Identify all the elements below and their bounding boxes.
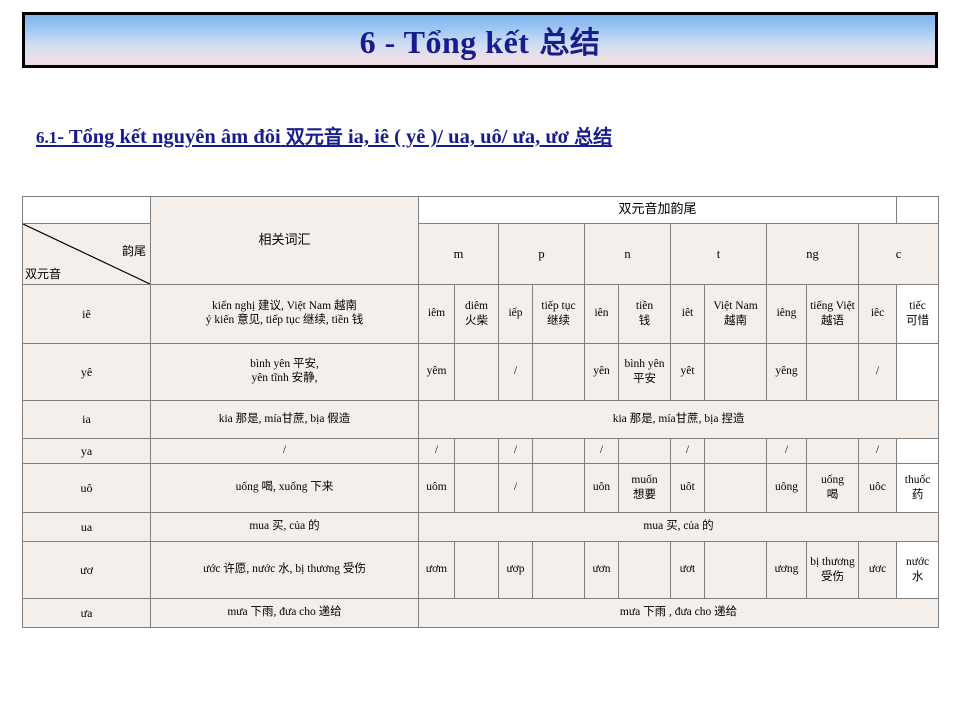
cell-ex-iem: diêm火柴 bbox=[455, 285, 499, 344]
subtitle-text: - Tổng kết nguyên âm đôi bbox=[57, 126, 280, 148]
cell-ex-uoc: thuốc药 bbox=[897, 464, 939, 513]
cell-ex-yec bbox=[897, 344, 939, 401]
cell-ex-yem bbox=[455, 344, 499, 401]
cell-form-yan: / bbox=[585, 439, 619, 464]
row-vocab-uo: uống 喝, xuống 下来 bbox=[151, 464, 419, 513]
cell-ex-uot2 bbox=[705, 542, 767, 599]
table-row: ưa mưa 下雨, đưa cho 递给 mưa 下雨 , đưa cho 递… bbox=[23, 599, 939, 628]
cell-ex-uong2: bị thương受伤 bbox=[807, 542, 859, 599]
row-vowel-uo: uô bbox=[23, 464, 151, 513]
cell-form-uoc: uôc bbox=[859, 464, 897, 513]
ex-vn: muốn bbox=[620, 474, 669, 488]
ex-cn: 药 bbox=[898, 488, 937, 502]
ending-header-m: m bbox=[419, 224, 499, 285]
cell-form-yeng: yêng bbox=[767, 344, 807, 401]
vocab-line-2: ý kiến 意见, tiếp tục 继续, tiền 钱 bbox=[152, 314, 417, 328]
cell-form-yac: / bbox=[859, 439, 897, 464]
cell-ex-yam bbox=[455, 439, 499, 464]
vocab-line-1: bình yên 平安, bbox=[152, 358, 417, 372]
cell-form-yet: yêt bbox=[671, 344, 705, 401]
row-vowel-ua2: ưa bbox=[23, 599, 151, 628]
cell-form-uom: uôm bbox=[419, 464, 455, 513]
cell-ex-yang bbox=[807, 439, 859, 464]
header-group-endings: 双元音加韵尾 bbox=[419, 197, 897, 224]
cell-form-yep: / bbox=[499, 344, 533, 401]
cell-form-uoc2: ươc bbox=[859, 542, 897, 599]
cell-ex-uop2 bbox=[533, 542, 585, 599]
ex-vn: tiếc bbox=[898, 300, 937, 314]
cell-ex-iec: tiếc可惜 bbox=[897, 285, 939, 344]
cell-ex-uot bbox=[705, 464, 767, 513]
header-top-right-spacer bbox=[897, 197, 939, 224]
ex-vn: bị thương bbox=[808, 556, 857, 570]
section-subtitle: 6.1- Tổng kết nguyên âm đôi 双元音 ia, iê (… bbox=[36, 122, 926, 149]
cell-form-yem: yêm bbox=[419, 344, 455, 401]
ex-vn: diêm bbox=[456, 300, 497, 314]
row-vowel-ua: ua bbox=[23, 513, 151, 542]
cell-ex-uop bbox=[533, 464, 585, 513]
row-vowel-ye: yê bbox=[23, 344, 151, 401]
ex-vn: bình yên bbox=[620, 358, 669, 372]
cell-form-yat: / bbox=[671, 439, 705, 464]
cell-form-yen: yên bbox=[585, 344, 619, 401]
ex-vn: Việt Nam bbox=[706, 300, 765, 314]
row-vocab-uo2: ước 许愿, nước 水, bị thương 受伤 bbox=[151, 542, 419, 599]
table-row: ươ ước 许愿, nước 水, bị thương 受伤 ươm ươp … bbox=[23, 542, 939, 599]
cell-ex-ieng: tiếng Việt越语 bbox=[807, 285, 859, 344]
cell-ex-iep: tiếp tục继续 bbox=[533, 285, 585, 344]
subtitle-cn-2: 总结 bbox=[574, 126, 612, 148]
cell-form-iet: iêt bbox=[671, 285, 705, 344]
cell-ex-uom2 bbox=[455, 542, 499, 599]
cell-ex-uong: uống喝 bbox=[807, 464, 859, 513]
ex-vn: uống bbox=[808, 474, 857, 488]
cell-ex-yac bbox=[897, 439, 939, 464]
row-vocab-ua: mua 买, của 的 bbox=[151, 513, 419, 542]
cell-form-uot2: ươt bbox=[671, 542, 705, 599]
cell-ex-yet bbox=[705, 344, 767, 401]
table-row: ua mua 买, của 的 mua 买, của 的 bbox=[23, 513, 939, 542]
ex-cn: 可惜 bbox=[898, 314, 937, 328]
row-vowel-uo2: ươ bbox=[23, 542, 151, 599]
cell-form-uon: uôn bbox=[585, 464, 619, 513]
header-vocab: 相关词汇 bbox=[151, 197, 419, 285]
table-row: ia kia 那是, mía甘蔗, bịa 假造 kia 那是, mía甘蔗, … bbox=[23, 401, 939, 439]
cell-form-iec: iêc bbox=[859, 285, 897, 344]
ex-cn: 继续 bbox=[534, 314, 583, 328]
row-merged-ia: kia 那是, mía甘蔗, bịa 捏造 bbox=[419, 401, 939, 439]
ending-header-ng: ng bbox=[767, 224, 859, 285]
cell-form-uong2: ương bbox=[767, 542, 807, 599]
ending-header-p: p bbox=[499, 224, 585, 285]
ex-vn: tiền bbox=[620, 300, 669, 314]
cell-ex-yan bbox=[619, 439, 671, 464]
cell-ex-yeng bbox=[807, 344, 859, 401]
cell-ex-yep bbox=[533, 344, 585, 401]
ending-header-t: t bbox=[671, 224, 767, 285]
cell-form-uop2: ươp bbox=[499, 542, 533, 599]
cell-form-uon2: ươn bbox=[585, 542, 619, 599]
row-merged-ua2: mưa 下雨 , đưa cho 递给 bbox=[419, 599, 939, 628]
cell-form-yec: / bbox=[859, 344, 897, 401]
vocab-line-2: yên tĩnh 安静, bbox=[152, 372, 417, 386]
cell-ex-uon: muốn想要 bbox=[619, 464, 671, 513]
cell-ex-uom bbox=[455, 464, 499, 513]
cell-form-uong: uông bbox=[767, 464, 807, 513]
ex-cn: 喝 bbox=[808, 488, 857, 502]
ex-vn: tiếng Việt bbox=[808, 300, 857, 314]
row-vocab-ua2: mưa 下雨, đưa cho 递给 bbox=[151, 599, 419, 628]
subtitle-cn-1: 双元音 bbox=[286, 126, 343, 148]
vocab-line-1: kiến nghị 建议, Việt Nam 越南 bbox=[152, 300, 417, 314]
cell-form-iem: iêm bbox=[419, 285, 455, 344]
corner-cell-diagonal: 韵尾 双元音 bbox=[23, 224, 151, 285]
row-vowel-ie: iê bbox=[23, 285, 151, 344]
cell-ex-ien: tiền钱 bbox=[619, 285, 671, 344]
ending-header-c: c bbox=[859, 224, 939, 285]
page-title-cn: 总结 bbox=[529, 26, 600, 61]
row-vocab-ye: bình yên 平安, yên tĩnh 安静, bbox=[151, 344, 419, 401]
ex-cn: 火柴 bbox=[456, 314, 497, 328]
table-row: uô uống 喝, xuống 下来 uôm / uôn muốn想要 uôt… bbox=[23, 464, 939, 513]
row-vocab-ia: kia 那是, mía甘蔗, bịa 假造 bbox=[151, 401, 419, 439]
subtitle-vowel-list: ia, iê ( yê )/ ua, uô/ ưa, ươ bbox=[348, 126, 569, 148]
row-merged-ua: mua 买, của 的 bbox=[419, 513, 939, 542]
table-row: iê kiến nghị 建议, Việt Nam 越南 ý kiến 意见, … bbox=[23, 285, 939, 344]
ex-cn: 钱 bbox=[620, 314, 669, 328]
ex-vn: nước bbox=[898, 556, 937, 570]
cell-form-yap: / bbox=[499, 439, 533, 464]
cell-form-yang: / bbox=[767, 439, 807, 464]
ex-cn: 想要 bbox=[620, 488, 669, 502]
title-banner: 6 - Tổng kết总结 bbox=[22, 12, 938, 68]
cell-form-uop: / bbox=[499, 464, 533, 513]
cell-ex-yat bbox=[705, 439, 767, 464]
ex-cn: 越南 bbox=[706, 314, 765, 328]
row-vocab-ie: kiến nghị 建议, Việt Nam 越南 ý kiến 意见, tiế… bbox=[151, 285, 419, 344]
cell-ex-yap bbox=[533, 439, 585, 464]
ex-cn: 受伤 bbox=[808, 570, 857, 584]
table-header-top: 相关词汇 双元音加韵尾 bbox=[23, 197, 939, 224]
ending-header-n: n bbox=[585, 224, 671, 285]
cell-ex-uon2 bbox=[619, 542, 671, 599]
cell-form-ien: iên bbox=[585, 285, 619, 344]
cell-form-ieng: iêng bbox=[767, 285, 807, 344]
ex-cn: 水 bbox=[898, 570, 937, 584]
row-vowel-ia: ia bbox=[23, 401, 151, 439]
summary-table-wrap: 相关词汇 双元音加韵尾 韵尾 双元音 m p n t ng c iê kiến … bbox=[22, 196, 938, 628]
diphthong-summary-table: 相关词汇 双元音加韵尾 韵尾 双元音 m p n t ng c iê kiến … bbox=[22, 196, 939, 628]
corner-label-diphthong: 双元音 bbox=[25, 267, 61, 281]
cell-ex-yen: bình yên平安 bbox=[619, 344, 671, 401]
table-row: ya / / / / / / / bbox=[23, 439, 939, 464]
corner-label-ending: 韵尾 bbox=[122, 244, 146, 258]
cell-form-uom2: ươm bbox=[419, 542, 455, 599]
ex-cn: 越语 bbox=[808, 314, 857, 328]
corner-spacer bbox=[23, 197, 151, 224]
page-title-vn: 6 - Tổng kết bbox=[360, 24, 530, 60]
row-vocab-ya: / bbox=[151, 439, 419, 464]
cell-ex-uoc2: nước水 bbox=[897, 542, 939, 599]
cell-form-iep: iếp bbox=[499, 285, 533, 344]
ex-vn: thuốc bbox=[898, 474, 937, 488]
table-row: yê bình yên 平安, yên tĩnh 安静, yêm / yên b… bbox=[23, 344, 939, 401]
cell-form-yam: / bbox=[419, 439, 455, 464]
subtitle-number: 6.1 bbox=[36, 128, 57, 147]
ex-vn: tiếp tục bbox=[534, 300, 583, 314]
row-vowel-ya: ya bbox=[23, 439, 151, 464]
ex-cn: 平安 bbox=[620, 372, 669, 386]
cell-ex-iet: Việt Nam越南 bbox=[705, 285, 767, 344]
page-title: 6 - Tổng kết总结 bbox=[360, 18, 601, 62]
cell-form-uot: uôt bbox=[671, 464, 705, 513]
